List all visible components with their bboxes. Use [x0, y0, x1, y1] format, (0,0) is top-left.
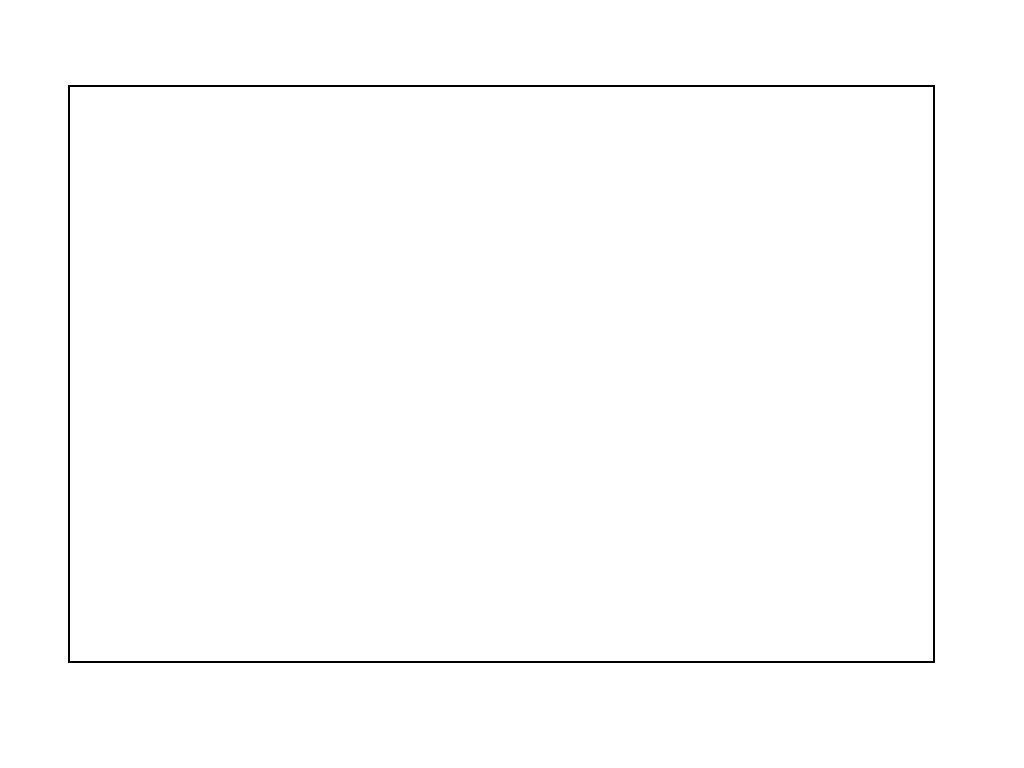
chart-page	[0, 0, 1024, 768]
x-axis-labels	[0, 664, 1024, 754]
heatmap-plot-area	[68, 85, 935, 663]
y-axis-ticks	[0, 85, 69, 663]
colorbar-legend	[938, 292, 1024, 476]
